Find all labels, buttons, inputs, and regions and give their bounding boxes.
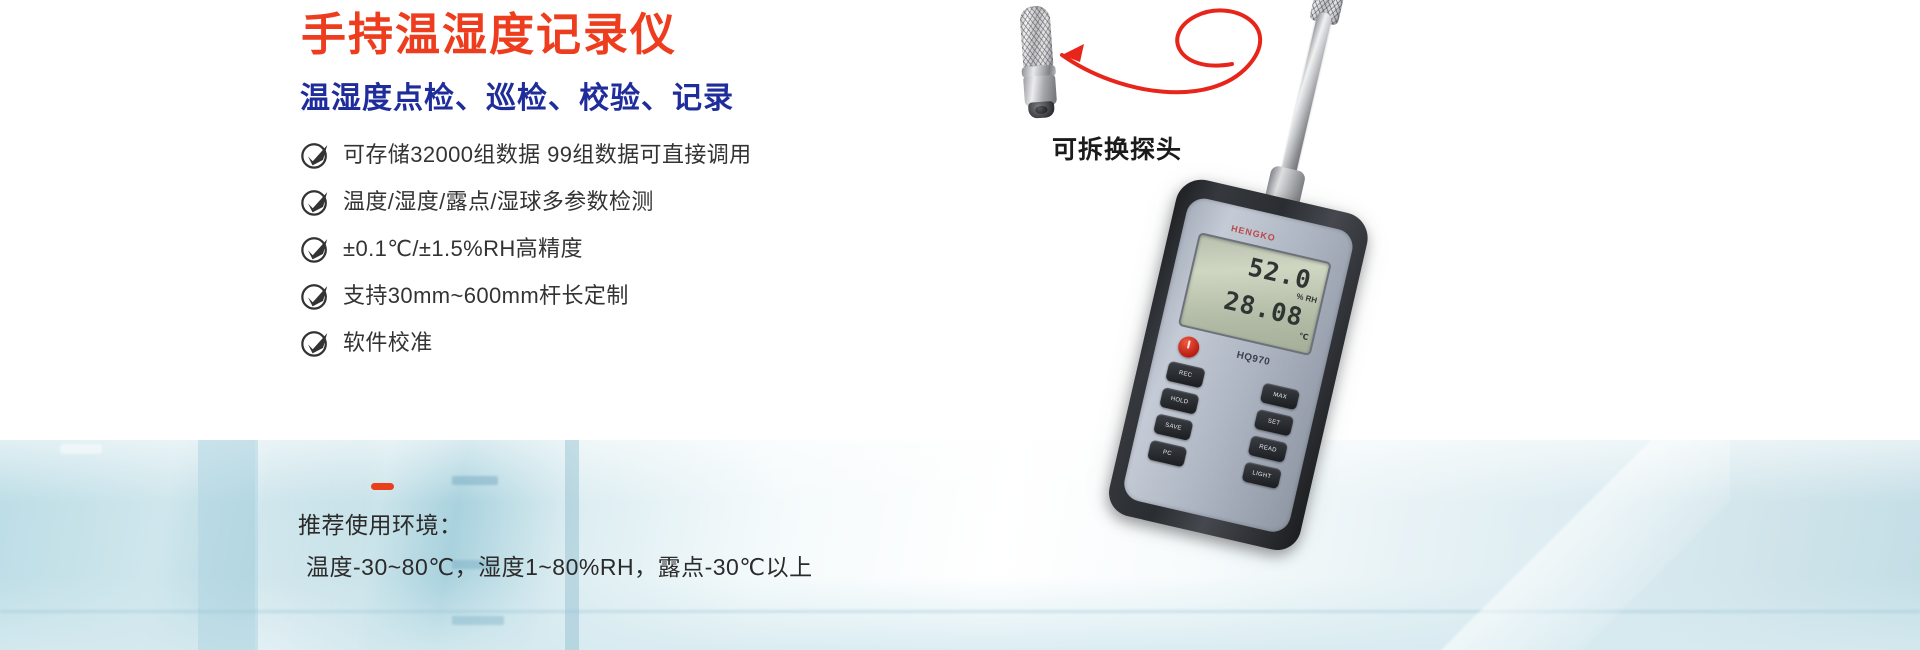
feature-text: 可存储32000组数据 99组数据可直接调用: [343, 144, 752, 166]
feature-item: ±0.1℃/±1.5%RH高精度: [300, 225, 752, 272]
feature-item: 可存储32000组数据 99组数据可直接调用: [300, 131, 752, 178]
key-button[interactable]: LIGHT: [1241, 461, 1282, 489]
page-subtitle: 温湿度点检、巡检、校验、记录: [300, 80, 734, 118]
lcd-temperature-unit: ℃: [1298, 331, 1309, 342]
feature-item: 软件校准: [300, 319, 752, 366]
environment-block: 推荐使用环境： 温度-30~80℃，湿度1~80%RH，露点-30℃以上: [298, 513, 813, 579]
feature-text: 支持30mm~600mm杆长定制: [343, 285, 629, 307]
feature-text: 温度/湿度/露点/湿球多参数检测: [343, 191, 654, 213]
lcd-temperature-value: 28.08: [1221, 286, 1306, 332]
key-button[interactable]: SAVE: [1153, 413, 1194, 441]
bg-shape-3: [452, 476, 498, 485]
key-button[interactable]: HOLD: [1159, 387, 1200, 415]
key-button[interactable]: PC: [1147, 440, 1188, 468]
environment-label: 推荐使用环境：: [298, 513, 813, 537]
circle-check-icon: [300, 140, 330, 170]
feature-list: 可存储32000组数据 99组数据可直接调用温度/湿度/露点/湿球多参数检测±0…: [300, 131, 752, 366]
feature-text: ±0.1℃/±1.5%RH高精度: [343, 238, 583, 260]
bg-shape-1: [198, 440, 258, 650]
product-image-area: 可拆换探头 HENGKO 52.0 % RH 28.08 ℃ HQ970 REC…: [940, 0, 1920, 650]
lcd-humidity-value: 52.0: [1245, 252, 1314, 295]
product-banner: 手持温湿度记录仪 温湿度点检、巡检、校验、记录 可存储32000组数据 99组数…: [0, 0, 1920, 650]
circle-check-icon: [300, 187, 330, 217]
circle-check-icon: [300, 281, 330, 311]
key-button[interactable]: SET: [1254, 409, 1295, 437]
page-title: 手持温湿度记录仪: [301, 8, 677, 61]
circle-check-icon: [300, 234, 330, 264]
bg-shape-5: [452, 616, 504, 625]
bg-shape-6: [60, 444, 102, 454]
feature-text: 软件校准: [343, 332, 433, 354]
environment-value: 温度-30~80℃，湿度1~80%RH，露点-30℃以上: [306, 555, 813, 579]
key-button[interactable]: READ: [1248, 435, 1289, 463]
feature-item: 温度/湿度/露点/湿球多参数检测: [300, 178, 752, 225]
circle-check-icon: [300, 328, 330, 358]
feature-item: 支持30mm~600mm杆长定制: [300, 272, 752, 319]
orange-dash-divider: [371, 483, 394, 490]
